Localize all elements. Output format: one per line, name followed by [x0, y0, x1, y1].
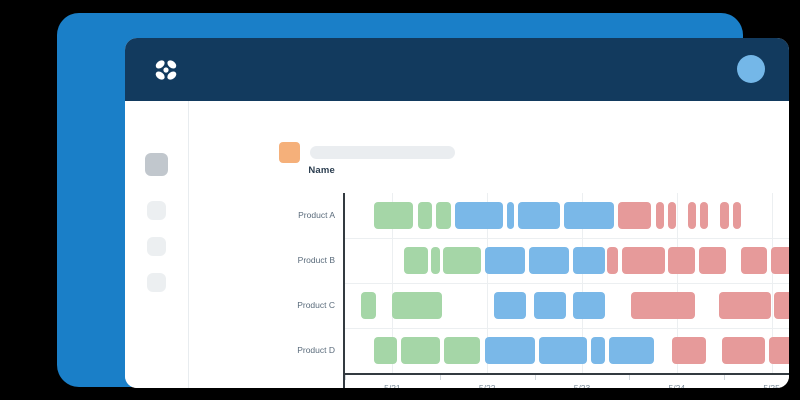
gantt-bar[interactable] — [719, 292, 771, 319]
gantt-bar[interactable] — [769, 337, 789, 364]
chart-x-axis-label: 5/24 — [647, 383, 707, 388]
app-header — [125, 38, 789, 101]
chart-category-label: Product B — [211, 255, 335, 265]
gantt-bar[interactable] — [443, 247, 480, 274]
gantt-bar[interactable] — [700, 202, 709, 229]
gantt-bar[interactable] — [622, 247, 665, 274]
gantt-bar[interactable] — [401, 337, 441, 364]
gantt-bar[interactable] — [444, 337, 480, 364]
sidebar-item-nav-item-2[interactable] — [147, 201, 166, 220]
chart-category-label: Product C — [211, 300, 335, 310]
gantt-bar[interactable] — [733, 202, 742, 229]
chart-category-label: Product A — [211, 210, 335, 220]
chart-x-axis — [343, 373, 789, 375]
gantt-bar[interactable] — [431, 247, 440, 274]
gantt-bar[interactable] — [374, 202, 414, 229]
gantt-bar[interactable] — [771, 247, 790, 274]
gantt-bar[interactable] — [361, 292, 376, 319]
gantt-bar[interactable] — [741, 247, 767, 274]
gantt-bar[interactable] — [539, 337, 588, 364]
gantt-bar[interactable] — [672, 337, 706, 364]
butterfly-logo-icon[interactable] — [151, 56, 181, 84]
gantt-bar[interactable] — [455, 202, 503, 229]
gantt-bar[interactable] — [518, 202, 560, 229]
chart-row-separator — [345, 283, 789, 284]
app-screen: Name 5/215/225/235/245/25Product AProduc… — [125, 38, 789, 388]
chart-x-axis-label: 5/21 — [362, 383, 422, 388]
chart-x-tick — [345, 375, 346, 380]
gantt-bar[interactable] — [722, 337, 765, 364]
gantt-bar[interactable] — [485, 337, 535, 364]
gantt-bar[interactable] — [774, 292, 789, 319]
gantt-bar[interactable] — [494, 292, 526, 319]
gantt-bar[interactable] — [631, 292, 696, 319]
gantt-bar[interactable] — [668, 247, 695, 274]
gantt-bar[interactable] — [564, 202, 614, 229]
gantt-bar[interactable] — [607, 247, 618, 274]
chart-row-separator — [345, 238, 789, 239]
content-pane: Name 5/215/225/235/245/25Product AProduc… — [189, 101, 789, 388]
gantt-bar[interactable] — [573, 247, 605, 274]
chart-x-tick — [724, 375, 725, 380]
gantt-bar[interactable] — [656, 202, 664, 229]
screenshot-root: Name 5/215/225/235/245/25Product AProduc… — [0, 0, 800, 400]
chart-category-label: Product D — [211, 345, 335, 355]
gantt-bar[interactable] — [573, 292, 605, 319]
gantt-bar[interactable] — [485, 247, 525, 274]
gantt-bar[interactable] — [418, 202, 433, 229]
gantt-bar[interactable] — [534, 292, 566, 319]
gantt-bar[interactable] — [720, 202, 729, 229]
sidebar-item-nav-item-3[interactable] — [147, 237, 166, 256]
gantt-bar[interactable] — [699, 247, 726, 274]
chart-x-axis-label: 5/23 — [552, 383, 612, 388]
gantt-bar[interactable] — [529, 247, 570, 274]
gantt-bar[interactable] — [688, 202, 696, 229]
gantt-bar[interactable] — [591, 337, 605, 364]
gantt-bar[interactable] — [609, 337, 654, 364]
sidebar-item-nav-item-1[interactable] — [145, 153, 168, 176]
chart-y-axis — [343, 193, 345, 388]
chart-x-axis-label: 5/22 — [457, 383, 517, 388]
gantt-bar[interactable] — [404, 247, 427, 274]
gantt-chart: Name 5/215/225/235/245/25Product AProduc… — [189, 101, 789, 388]
sidebar-item-nav-item-4[interactable] — [147, 273, 166, 292]
gantt-bar[interactable] — [436, 202, 451, 229]
gantt-bar[interactable] — [668, 202, 677, 229]
chart-axis-title: Name — [211, 165, 335, 176]
chart-x-tick — [440, 375, 441, 380]
chart-x-tick — [629, 375, 630, 380]
gantt-bar[interactable] — [507, 202, 515, 229]
gantt-bar[interactable] — [392, 292, 442, 319]
gantt-bar[interactable] — [374, 337, 397, 364]
device-frame: Name 5/215/225/235/245/25Product AProduc… — [57, 13, 743, 387]
avatar[interactable] — [737, 55, 765, 83]
gantt-bar[interactable] — [618, 202, 651, 229]
sidebar — [125, 101, 189, 388]
chart-x-tick — [535, 375, 536, 380]
chart-x-axis-label: 5/25 — [742, 383, 789, 388]
chart-row-separator — [345, 328, 789, 329]
